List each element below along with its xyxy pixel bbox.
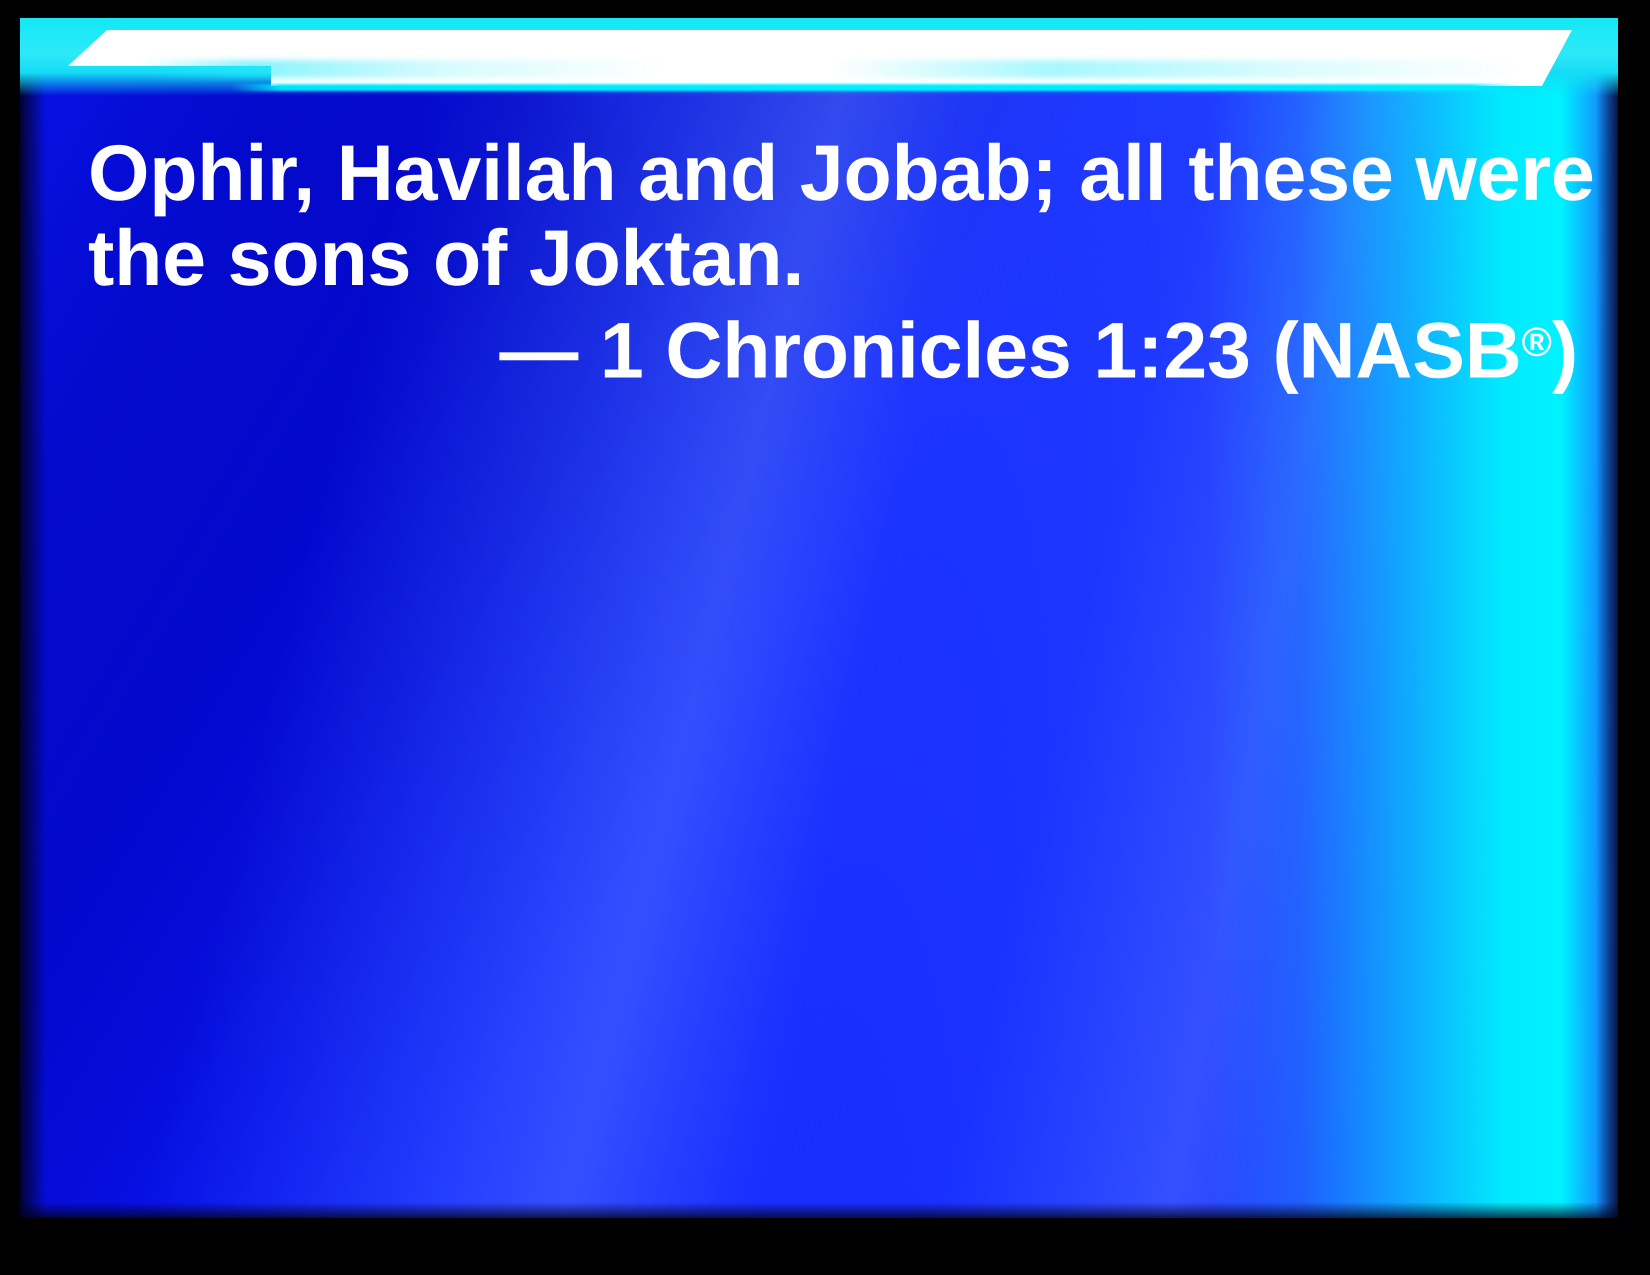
attribution-translation-open: (NASB	[1272, 305, 1521, 394]
verse-slide: Ophir, Havilah and Jobab; all these were…	[0, 0, 1650, 1275]
verse-line-1: Ophir, Havilah and Jobab; all these were	[88, 130, 1588, 215]
attribution-em-dash: —	[499, 305, 578, 394]
slide-artwork-canvas: Ophir, Havilah and Jobab; all these were…	[20, 18, 1618, 1218]
verse-attribution: — 1 Chronicles 1:23 (NASB®)	[88, 300, 1588, 392]
top-decorative-banner	[20, 18, 1618, 96]
attribution-reference: 1 Chronicles 1:23	[600, 305, 1251, 394]
registered-trademark-icon: ®	[1522, 319, 1552, 365]
banner-cyan-wash	[140, 60, 1520, 78]
banner-cyan-underline	[230, 84, 1520, 91]
verse-text-block: Ophir, Havilah and Jobab; all these were…	[88, 130, 1588, 392]
verse-line-2: the sons of Joktan.	[88, 215, 1588, 300]
attribution-translation-close: )	[1552, 305, 1578, 394]
